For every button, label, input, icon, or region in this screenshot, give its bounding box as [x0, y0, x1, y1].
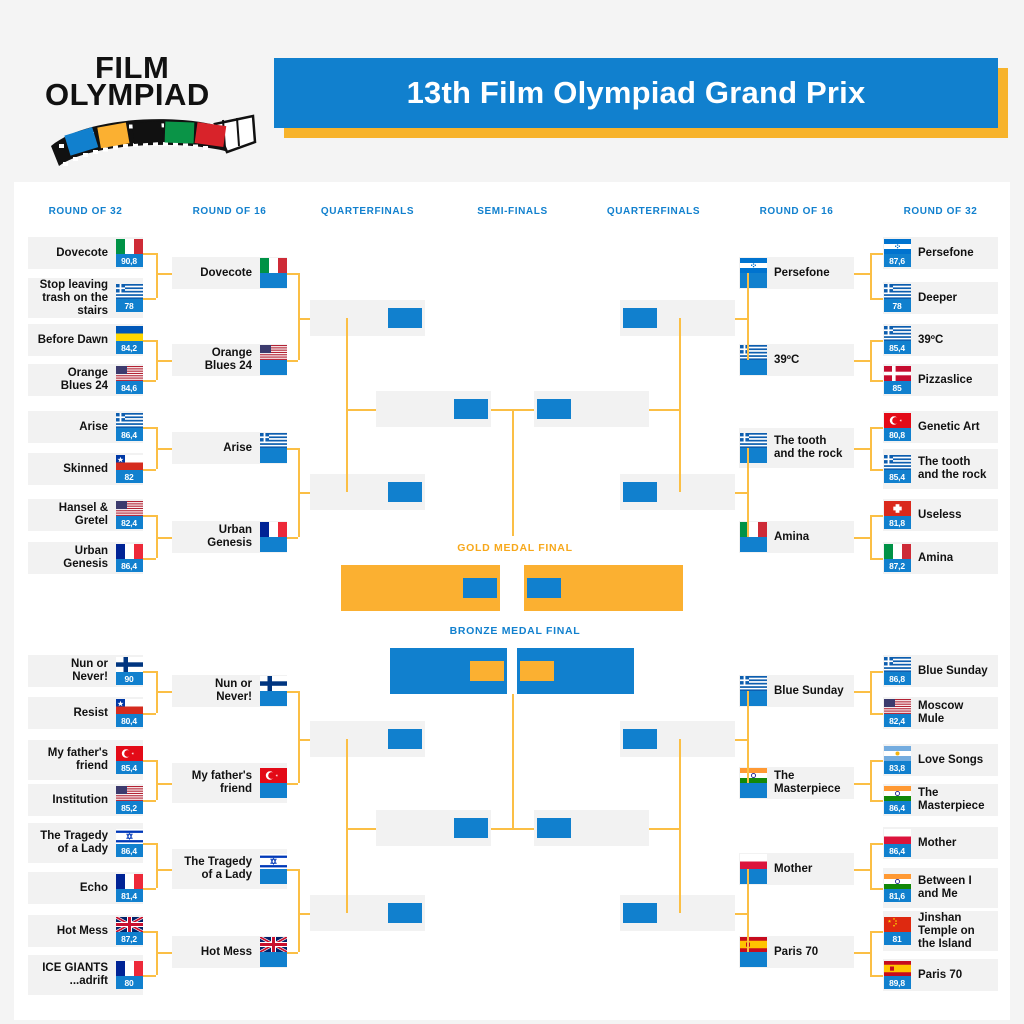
match-entry-left-r32-0[interactable]: Dovecote90,8: [28, 237, 143, 269]
entry-slot: [259, 345, 287, 375]
entry-name: 39ºC: [911, 334, 992, 347]
entry-name: Blue Sunday: [767, 685, 848, 698]
connector-line: [287, 448, 298, 450]
entry-name: Arise: [178, 442, 259, 455]
connector-line: [156, 360, 172, 362]
connector-line: [156, 869, 172, 871]
score-badge: 89,8: [884, 976, 911, 989]
match-entry-right-r32-2[interactable]: 39ºC85,4: [883, 324, 998, 356]
round-header-1: ROUND OF 16: [172, 206, 287, 217]
entry-name: Persefone: [767, 267, 848, 280]
flag-icon-uk: [116, 917, 143, 932]
connector-line: [854, 783, 870, 785]
entry-name: The tooth and the rock: [767, 435, 848, 461]
match-entry-left-r32-14[interactable]: Hot Mess87,2: [28, 915, 143, 947]
flag-icon-india: [740, 768, 767, 783]
entry-name: Moscow Mule: [911, 700, 992, 726]
logo-text-olympiad: OLYMPIAD: [45, 77, 210, 113]
connector-line: [143, 931, 156, 933]
connector-line: [143, 558, 156, 560]
score-badge: 90,8: [116, 254, 143, 267]
flag-icon-turkey: [260, 768, 287, 783]
score-badge: 82,4: [884, 714, 911, 727]
score-badge: 81: [884, 932, 911, 945]
flag-icon-spain: [884, 961, 911, 976]
connector-line: [512, 409, 514, 536]
flag-icon-france: [260, 522, 287, 537]
entry-slot: [385, 308, 425, 328]
entry-name: Mother: [911, 837, 992, 850]
connector-line: [346, 409, 376, 411]
connector-line: [491, 828, 512, 830]
entry-name: My father's friend: [178, 770, 259, 796]
score-badge: 86,4: [884, 844, 911, 857]
bronze-final-entry-1[interactable]: [517, 648, 634, 694]
entry-slot: [620, 308, 660, 328]
entry-slot: [739, 345, 767, 375]
score-badge: 81,4: [116, 889, 143, 902]
match-entry-right-sf-1[interactable]: [534, 810, 649, 846]
entry-name: Love Songs: [911, 754, 992, 767]
entry-slot: [739, 854, 767, 884]
score-badge: [260, 869, 287, 884]
match-entry-left-r32-4[interactable]: Arise86,4: [28, 411, 143, 443]
match-entry-right-r16-0[interactable]: Persefone: [739, 257, 854, 289]
flag-icon-poland: [884, 829, 911, 844]
score-badge: [454, 399, 488, 419]
match-entry-right-qf-1[interactable]: [620, 474, 735, 510]
entry-slot: [739, 676, 767, 706]
score-badge: 87,6: [884, 254, 911, 267]
round-header-5: ROUND OF 16: [739, 206, 854, 217]
gold-final-entry-1[interactable]: [524, 565, 683, 611]
score-badge: [388, 903, 422, 923]
entry-name: Nun or Never!: [178, 678, 259, 704]
entry-slot: 87,6: [883, 239, 911, 267]
score-badge: 82: [116, 470, 143, 483]
match-entry-right-qf-2[interactable]: [620, 721, 735, 757]
match-entry-left-r16-5[interactable]: My father's friend: [172, 763, 287, 803]
connector-line: [870, 515, 872, 558]
flag-icon-france: [116, 961, 143, 976]
score-badge: [470, 661, 504, 681]
entry-slot: 90,8: [115, 239, 143, 267]
score-badge: [260, 952, 287, 967]
score-badge: 81,6: [884, 889, 911, 902]
connector-line: [298, 739, 310, 741]
flag-icon-india: [884, 786, 911, 801]
score-badge: [388, 729, 422, 749]
score-badge: 86,4: [116, 428, 143, 441]
connector-line: [298, 318, 310, 320]
entry-slot: [451, 399, 491, 419]
connector-line: [747, 691, 749, 783]
score-badge: 86,4: [116, 559, 143, 572]
entry-slot: 78: [883, 284, 911, 312]
match-entry-left-r16-3[interactable]: Urban Genesis: [172, 521, 287, 553]
match-entry-left-r32-12[interactable]: The Tragedy of a Lady86,4: [28, 823, 143, 863]
score-badge: [623, 903, 657, 923]
score-badge: 78: [884, 299, 911, 312]
connector-line: [870, 380, 883, 382]
entry-slot: [517, 661, 557, 681]
connector-line: [143, 427, 156, 429]
score-badge: 87,2: [884, 559, 911, 572]
flag-icon-denmark: [884, 366, 911, 381]
match-entry-right-r32-14[interactable]: Jinshan Temple on the Island81: [883, 911, 998, 951]
score-badge: 85,4: [884, 341, 911, 354]
entry-name: The Masterpiece: [767, 770, 848, 796]
entry-name: Orange Blues 24: [178, 347, 259, 373]
score-badge: [623, 729, 657, 749]
entry-slot: 86,4: [115, 829, 143, 857]
entry-name: Skinned: [34, 463, 115, 476]
entry-slot: 85,4: [883, 326, 911, 354]
connector-line: [156, 760, 158, 800]
flag-icon-turkey: [116, 746, 143, 761]
match-entry-left-qf-2[interactable]: [310, 721, 425, 757]
match-entry-right-r32-9[interactable]: Moscow Mule82,4: [883, 697, 998, 729]
match-entry-right-r16-3[interactable]: Amina: [739, 521, 854, 553]
match-entry-left-r16-6[interactable]: The Tragedy of a Lady: [172, 849, 287, 889]
connector-line: [143, 298, 156, 300]
match-entry-left-r32-5[interactable]: Skinned82: [28, 453, 143, 485]
entry-name: Urban Genesis: [178, 524, 259, 550]
connector-line: [747, 448, 749, 537]
match-entry-left-r32-3[interactable]: Orange Blues 2484,6: [28, 364, 143, 396]
score-badge: [260, 691, 287, 706]
connector-line: [870, 298, 883, 300]
flag-icon-honduras: [740, 258, 767, 273]
flag-icon-greece: [884, 455, 911, 470]
entry-slot: 78: [115, 284, 143, 312]
entry-name: Deeper: [911, 292, 992, 305]
match-entry-right-r16-6[interactable]: Mother: [739, 853, 854, 885]
connector-line: [143, 253, 156, 255]
match-entry-left-r16-0[interactable]: Dovecote: [172, 257, 287, 289]
connector-line: [156, 952, 172, 954]
match-entry-right-r32-1[interactable]: Deeper78: [883, 282, 998, 314]
connector-line: [870, 843, 872, 888]
match-entry-left-r32-10[interactable]: My father's friend85,4: [28, 740, 143, 780]
entry-slot: [259, 768, 287, 798]
flag-icon-ukraine: [116, 326, 143, 341]
flag-icon-greece: [260, 433, 287, 448]
entry-slot: [739, 522, 767, 552]
connector-line: [143, 380, 156, 382]
entry-slot: 86,4: [883, 786, 911, 814]
score-badge: [537, 399, 571, 419]
score-badge: 85,4: [116, 761, 143, 774]
entry-slot: 81,6: [883, 874, 911, 902]
entry-name: Paris 70: [911, 969, 992, 982]
entry-slot: 86,4: [115, 544, 143, 572]
entry-slot: 84,6: [115, 366, 143, 394]
flag-icon-chile: [116, 455, 143, 470]
match-entry-right-r32-5[interactable]: The tooth and the rock85,4: [883, 449, 998, 489]
flag-icon-greece: [740, 676, 767, 691]
entry-name: 39ºC: [767, 354, 848, 367]
score-badge: 80,4: [116, 714, 143, 727]
entry-slot: 85: [883, 366, 911, 394]
match-entry-left-qf-3[interactable]: [310, 895, 425, 931]
connector-line: [854, 448, 870, 450]
connector-line: [346, 318, 348, 492]
entry-name: My father's friend: [34, 747, 115, 773]
entry-slot: 90: [115, 657, 143, 685]
entry-name: Hot Mess: [34, 925, 115, 938]
flag-icon-argentina: [884, 746, 911, 761]
entry-slot: 80,4: [115, 699, 143, 727]
entry-slot: [739, 433, 767, 463]
score-badge: [623, 482, 657, 502]
match-entry-right-r16-5[interactable]: The Masterpiece: [739, 767, 854, 799]
flag-icon-israel: [260, 854, 287, 869]
match-entry-left-r16-4[interactable]: Nun or Never!: [172, 675, 287, 707]
flag-icon-finland: [116, 657, 143, 672]
round-header-2: QUARTERFINALS: [310, 206, 425, 217]
match-entry-left-r16-7[interactable]: Hot Mess: [172, 936, 287, 968]
entry-name: Urban Genesis: [34, 545, 115, 571]
score-badge: [463, 578, 497, 598]
connector-line: [287, 952, 298, 954]
score-badge: 84,2: [116, 341, 143, 354]
entry-name: The tooth and the rock: [911, 456, 992, 482]
connector-line: [870, 800, 883, 802]
entry-name: Useless: [911, 509, 992, 522]
entry-name: Amina: [767, 531, 848, 544]
bracket-page: FILM OLYMPIAD: [0, 0, 1024, 1024]
entry-slot: [259, 522, 287, 552]
entry-slot: 82: [115, 455, 143, 483]
match-entry-right-r32-11[interactable]: The Masterpiece86,4: [883, 784, 998, 816]
match-entry-left-r32-2[interactable]: Before Dawn84,2: [28, 324, 143, 356]
match-entry-right-sf-0[interactable]: [534, 391, 649, 427]
connector-line: [143, 469, 156, 471]
connector-line: [298, 273, 300, 360]
connector-line: [649, 828, 679, 830]
match-entry-left-r32-15[interactable]: ICE GIANTS ...adrift80: [28, 955, 143, 995]
connector-line: [287, 537, 298, 539]
match-entry-left-r32-13[interactable]: Echo81,4: [28, 872, 143, 904]
score-badge: [520, 661, 554, 681]
entry-slot: [385, 729, 425, 749]
entry-slot: 83,8: [883, 746, 911, 774]
connector-line: [143, 800, 156, 802]
score-badge: [260, 360, 287, 375]
score-badge: 86,8: [884, 672, 911, 685]
entry-slot: [524, 578, 564, 598]
score-badge: [740, 952, 767, 967]
connector-line: [156, 843, 158, 888]
entry-name: Paris 70: [767, 946, 848, 959]
score-badge: [260, 783, 287, 798]
gold-final-entry-0[interactable]: [341, 565, 500, 611]
flag-icon-switzerland: [884, 501, 911, 516]
connector-line: [143, 760, 156, 762]
connector-line: [156, 273, 172, 275]
match-entry-left-r16-2[interactable]: Arise: [172, 432, 287, 464]
entry-slot: [739, 768, 767, 798]
match-entry-right-r16-7[interactable]: Paris 70: [739, 936, 854, 968]
entry-slot: [259, 676, 287, 706]
flag-icon-greece: [884, 657, 911, 672]
flag-icon-india: [884, 874, 911, 889]
connector-line: [735, 739, 747, 741]
connector-line: [870, 713, 883, 715]
match-entry-left-r32-11[interactable]: Institution85,2: [28, 784, 143, 816]
match-entry-right-r32-10[interactable]: Love Songs83,8: [883, 744, 998, 776]
connector-line: [747, 273, 749, 360]
entry-slot: [534, 818, 574, 838]
match-entry-right-r32-13[interactable]: Between I and Me81,6: [883, 868, 998, 908]
match-entry-left-sf-1[interactable]: [376, 810, 491, 846]
match-entry-right-r16-2[interactable]: The tooth and the rock: [739, 428, 854, 468]
match-entry-left-r32-8[interactable]: Nun or Never!90: [28, 655, 143, 687]
entry-slot: 87,2: [883, 544, 911, 572]
connector-line: [735, 492, 747, 494]
flag-icon-turkey: [884, 413, 911, 428]
flag-icon-usa: [884, 699, 911, 714]
entry-name: Genetic Art: [911, 421, 992, 434]
score-badge: [260, 537, 287, 552]
entry-slot: 89,8: [883, 961, 911, 989]
match-entry-left-r16-1[interactable]: Orange Blues 24: [172, 344, 287, 376]
score-badge: 85,4: [884, 470, 911, 483]
connector-line: [156, 253, 158, 298]
connector-line: [747, 869, 749, 952]
flag-icon-poland: [740, 854, 767, 869]
connector-line: [870, 760, 872, 800]
score-badge: 85,2: [116, 801, 143, 814]
match-entry-right-r32-7[interactable]: Amina87,2: [883, 542, 998, 574]
flag-icon-usa: [116, 501, 143, 516]
connector-line: [512, 828, 534, 830]
entry-slot: [451, 818, 491, 838]
entry-name: Mother: [767, 863, 848, 876]
entry-slot: 86,8: [883, 657, 911, 685]
entry-name: Amina: [911, 552, 992, 565]
connector-line: [287, 273, 298, 275]
match-entry-right-qf-0[interactable]: [620, 300, 735, 336]
score-badge: [740, 537, 767, 552]
connector-line: [287, 360, 298, 362]
bronze-final-entry-0[interactable]: [390, 648, 507, 694]
entry-name: Institution: [34, 794, 115, 807]
score-badge: [740, 448, 767, 463]
connector-line: [143, 975, 156, 977]
connector-line: [512, 694, 514, 828]
flag-icon-honduras: [884, 239, 911, 254]
match-entry-right-r32-8[interactable]: Blue Sunday86,8: [883, 655, 998, 687]
connector-line: [156, 448, 172, 450]
entry-slot: 86,4: [883, 829, 911, 857]
match-entry-right-r32-6[interactable]: Useless81,8: [883, 499, 998, 531]
connector-line: [156, 691, 172, 693]
match-entry-right-r32-3[interactable]: Pizzaslice85: [883, 364, 998, 396]
connector-line: [735, 913, 747, 915]
match-entry-right-r16-1[interactable]: 39ºC: [739, 344, 854, 376]
match-entry-left-r32-6[interactable]: Hansel & Gretel82,4: [28, 499, 143, 531]
entry-slot: [259, 258, 287, 288]
connector-line: [156, 783, 172, 785]
entry-slot: [259, 854, 287, 884]
entry-name: Persefone: [911, 247, 992, 260]
connector-line: [491, 409, 512, 411]
score-badge: [740, 273, 767, 288]
entry-name: Echo: [34, 882, 115, 895]
match-entry-right-r32-15[interactable]: Paris 7089,8: [883, 959, 998, 991]
match-entry-right-r32-0[interactable]: Persefone87,6: [883, 237, 998, 269]
flag-icon-spain: [740, 937, 767, 952]
entry-slot: [385, 482, 425, 502]
connector-line: [287, 691, 298, 693]
score-badge: [260, 448, 287, 463]
match-entry-right-r32-12[interactable]: Mother86,4: [883, 827, 998, 859]
match-entry-left-r32-1[interactable]: Stop leaving trash on the stairs78: [28, 278, 143, 318]
entry-slot: 80,8: [883, 413, 911, 441]
flag-icon-usa: [116, 366, 143, 381]
entry-slot: [467, 661, 507, 681]
entry-name: ICE GIANTS ...adrift: [34, 962, 115, 988]
score-badge: [740, 691, 767, 706]
match-entry-left-r32-9[interactable]: Resist80,4: [28, 697, 143, 729]
round-header-3: SEMI-FINALS: [455, 206, 570, 217]
connector-line: [854, 537, 870, 539]
score-badge: 87,2: [116, 932, 143, 945]
match-entry-right-qf-3[interactable]: [620, 895, 735, 931]
entry-slot: 81,4: [115, 874, 143, 902]
film-olympiad-logo: FILM OLYMPIAD: [45, 50, 260, 165]
connector-line: [854, 869, 870, 871]
entry-name: The Tragedy of a Lady: [178, 856, 259, 882]
connector-line: [346, 828, 376, 830]
flag-icon-finland: [260, 676, 287, 691]
entry-name: The Masterpiece: [911, 787, 992, 813]
bronze-final-label: BRONZE MEDAL FINAL: [345, 625, 685, 637]
entry-slot: [259, 433, 287, 463]
connector-line: [298, 492, 310, 494]
connector-line: [143, 713, 156, 715]
connector-line: [679, 318, 681, 492]
flag-icon-italy: [740, 522, 767, 537]
score-badge: [527, 578, 561, 598]
match-entry-left-sf-0[interactable]: [376, 391, 491, 427]
entry-name: Stop leaving trash on the stairs: [34, 279, 115, 318]
match-entry-right-r16-4[interactable]: Blue Sunday: [739, 675, 854, 707]
score-badge: [454, 818, 488, 838]
connector-line: [346, 739, 348, 913]
flag-icon-france: [116, 544, 143, 559]
entry-slot: [620, 482, 660, 502]
entry-slot: 85,4: [115, 746, 143, 774]
connector-line: [870, 671, 872, 713]
score-badge: 80,8: [884, 428, 911, 441]
score-badge: [260, 273, 287, 288]
flag-icon-usa: [260, 345, 287, 360]
entry-name: Hansel & Gretel: [34, 502, 115, 528]
entry-name: Before Dawn: [34, 334, 115, 347]
match-entry-left-qf-1[interactable]: [310, 474, 425, 510]
match-entry-left-qf-0[interactable]: [310, 300, 425, 336]
score-badge: 78: [116, 299, 143, 312]
entry-name: Jinshan Temple on the Island: [911, 912, 992, 951]
score-badge: 86,4: [884, 801, 911, 814]
match-entry-right-r32-4[interactable]: Genetic Art80,8: [883, 411, 998, 443]
entry-slot: 84,2: [115, 326, 143, 354]
entry-name: Blue Sunday: [911, 665, 992, 678]
match-entry-left-r32-7[interactable]: Urban Genesis86,4: [28, 542, 143, 574]
